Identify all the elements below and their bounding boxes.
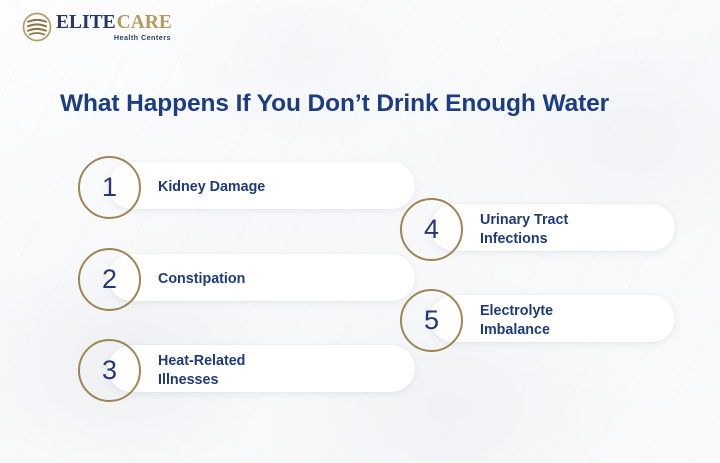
brand-wordmark: ELITECARE — [56, 13, 172, 33]
list-item: 5 Electrolyte Imbalance — [400, 289, 553, 352]
list-item-number-badge: 5 — [400, 289, 463, 352]
brand-tagline: Health Centers — [56, 34, 171, 41]
list-item-number-badge: 4 — [400, 198, 463, 261]
list-item-number: 3 — [102, 357, 117, 384]
brand-name-care: CARE — [117, 13, 172, 33]
list-item-number: 5 — [424, 307, 439, 334]
list-item-label: Kidney Damage — [158, 178, 265, 196]
list-item-number: 2 — [102, 266, 117, 293]
elitecare-wave-emblem-icon — [22, 12, 52, 42]
list-item-number: 1 — [102, 174, 117, 201]
list-item: 4 Urinary Tract Infections — [400, 198, 568, 261]
list-item: 3 Heat-Related Illnesses — [78, 339, 245, 402]
brand-name-elite: ELITE — [56, 13, 116, 33]
list-item-label: Urinary Tract Infections — [480, 211, 568, 248]
list-item-label: Electrolyte Imbalance — [480, 302, 553, 339]
list-item-number: 4 — [424, 216, 439, 243]
list-item-label: Heat-Related Illnesses — [158, 352, 245, 389]
infographic-canvas: ELITECARE Health Centers What Happens If… — [0, 0, 720, 463]
list-item-pill — [108, 254, 415, 301]
list-item-number-badge: 1 — [78, 156, 141, 219]
list-item: 1 Kidney Damage — [78, 156, 265, 219]
list-item: 2 Constipation — [78, 248, 245, 311]
list-item-label: Constipation — [158, 270, 245, 288]
list-item-number-badge: 3 — [78, 339, 141, 402]
brand-text: ELITECARE Health Centers — [56, 13, 172, 42]
list-item-pill — [108, 345, 415, 392]
page-title: What Happens If You Don’t Drink Enough W… — [60, 90, 609, 118]
brand-logo: ELITECARE Health Centers — [22, 12, 172, 42]
list-item-number-badge: 2 — [78, 248, 141, 311]
